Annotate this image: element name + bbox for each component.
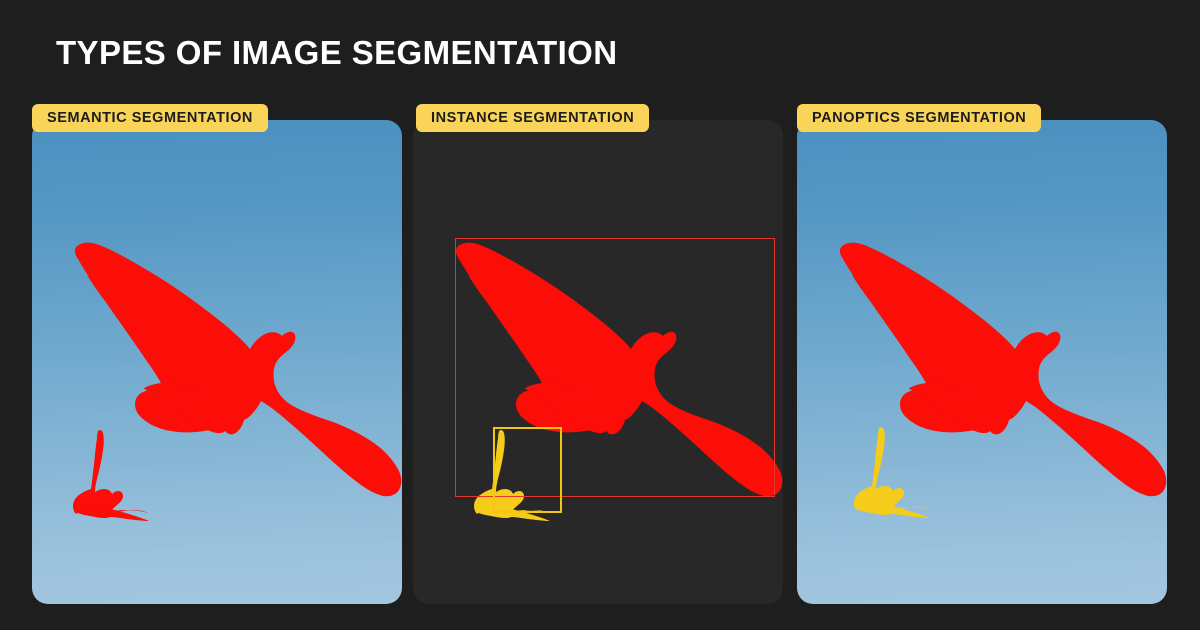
large-gull-mask bbox=[75, 243, 401, 497]
small-gull-mask bbox=[73, 430, 148, 516]
small-gull-mask-tail bbox=[857, 504, 930, 518]
panels-row bbox=[0, 104, 1200, 604]
small-gull-mask-tail bbox=[76, 507, 149, 521]
badge-instance-segmentation[interactable]: INSTANCE SEGMENTATION bbox=[416, 104, 649, 132]
poster-root: TYPES OF IMAGE SEGMENTATION bbox=[0, 0, 1200, 630]
scene-semantic bbox=[32, 120, 402, 604]
panel-semantic-segmentation[interactable] bbox=[32, 120, 402, 604]
badge-semantic-segmentation[interactable]: SEMANTIC SEGMENTATION bbox=[32, 104, 268, 132]
panel-instance-segmentation[interactable] bbox=[413, 120, 783, 604]
panel-panoptics-segmentation[interactable] bbox=[797, 120, 1167, 604]
small-gull-bbox[interactable] bbox=[493, 427, 562, 513]
scene-panoptics bbox=[797, 120, 1167, 604]
small-gull-mask bbox=[854, 427, 929, 513]
panoptics-mask-svg bbox=[797, 120, 1167, 604]
page-title: TYPES OF IMAGE SEGMENTATION bbox=[56, 33, 617, 73]
semantic-mask-svg bbox=[32, 120, 402, 604]
large-gull-mask bbox=[840, 243, 1166, 497]
badge-panoptics-segmentation[interactable]: PANOPTICS SEGMENTATION bbox=[797, 104, 1041, 132]
